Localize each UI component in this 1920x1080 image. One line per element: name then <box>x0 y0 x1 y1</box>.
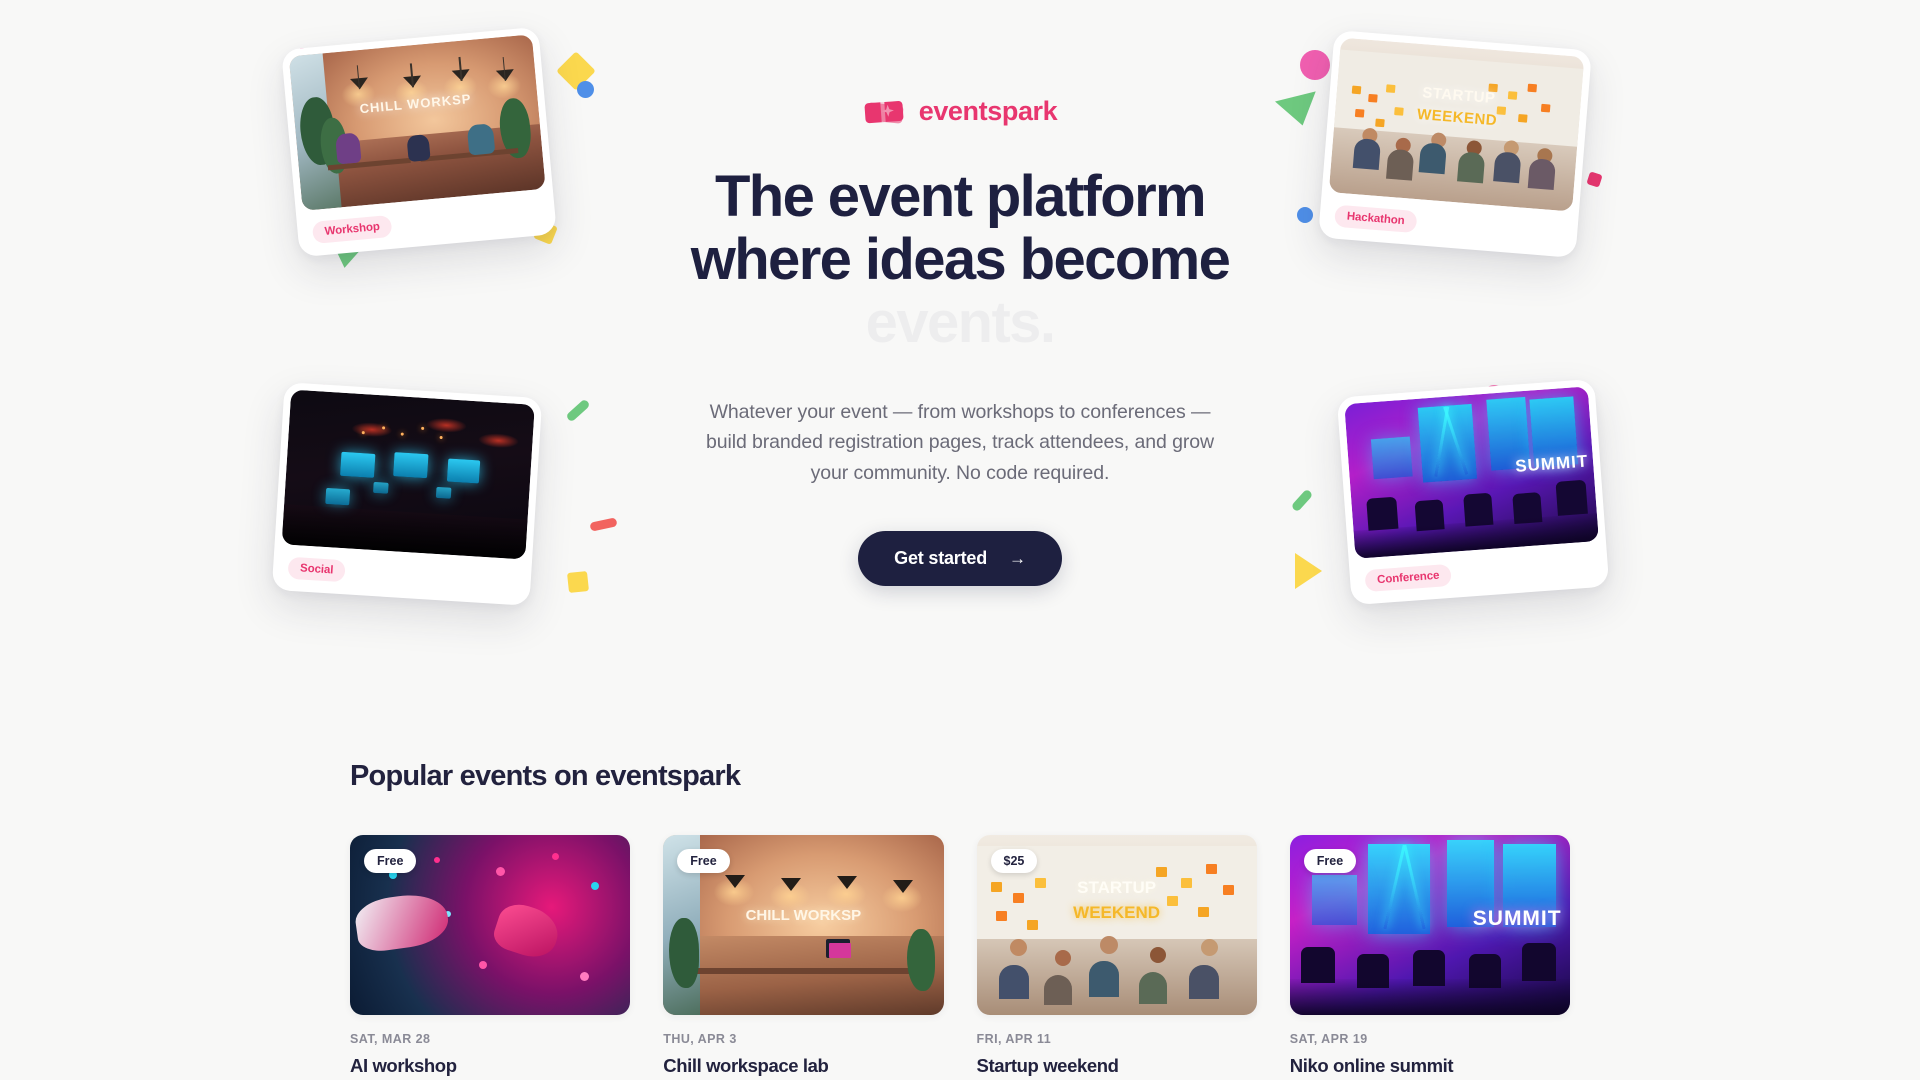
event-thumbnail: Free SUMMIT <box>1290 835 1570 1015</box>
event-date: SAT, MAR 28 <box>350 1032 630 1046</box>
event-thumbnail: Free CHILL WORKSP <box>663 835 943 1015</box>
hero-content: eventspark The event platform where idea… <box>580 96 1340 586</box>
brand-name: eventspark <box>919 96 1058 127</box>
get-started-label: Get started <box>894 548 987 569</box>
popular-events-section: Popular events on eventspark Free <box>0 760 1920 1077</box>
floating-card-photo: CHILL WORKSP <box>289 34 546 210</box>
brand-logo[interactable]: eventspark <box>580 96 1340 127</box>
headline-line-2: where ideas become <box>580 228 1340 291</box>
event-card[interactable]: $25 STARTUP WEEKEND <box>977 835 1257 1077</box>
get-started-button[interactable]: Get started → <box>858 531 1062 586</box>
event-title: Startup weekend <box>977 1055 1257 1077</box>
subhead-line-2: build branded registration pages, track … <box>706 431 1214 453</box>
page-title: The event platform where ideas become ev… <box>580 165 1340 355</box>
hero-section: CHILL WORKSP Workshop <box>0 0 1920 660</box>
event-title: Niko online summit <box>1290 1055 1570 1077</box>
scene-sticky-note-wall: STARTUP WEEKEND <box>1329 38 1585 212</box>
event-thumbnail: Free <box>350 835 630 1015</box>
event-price-badge: $25 <box>991 849 1038 873</box>
subhead-line-3: your community. No code required. <box>811 462 1110 484</box>
event-price-badge: Free <box>1304 849 1356 873</box>
event-price-badge: Free <box>677 849 729 873</box>
scene-dark-neon-desks <box>282 390 535 560</box>
floating-card-conference[interactable]: SUMMIT Conference <box>1337 379 1610 605</box>
floating-card-photo <box>282 390 535 560</box>
floating-card-category: Social <box>287 557 346 583</box>
hero-subheadline: Whatever your event — from workshops to … <box>580 397 1340 489</box>
event-title: Chill workspace lab <box>663 1055 943 1077</box>
event-date: THU, APR 3 <box>663 1032 943 1046</box>
headline-line-3: events. <box>580 291 1340 354</box>
event-date: SAT, APR 19 <box>1290 1032 1570 1046</box>
arrow-right-icon: → <box>1009 550 1026 567</box>
floating-card-photo: STARTUP WEEKEND <box>1329 38 1585 212</box>
headline-line-1: The event platform <box>580 165 1340 228</box>
scene-purple-summit-stage: SUMMIT <box>1344 386 1599 558</box>
scene-coworking-lounge: CHILL WORKSP <box>289 34 546 210</box>
confetti-square-magenta <box>1586 171 1602 187</box>
event-thumbnail: $25 STARTUP WEEKEND <box>977 835 1257 1015</box>
event-title: AI workshop <box>350 1055 630 1077</box>
floating-card-category: Hackathon <box>1334 205 1417 233</box>
event-card[interactable]: Free CHILL WORKSP <box>663 835 943 1077</box>
floating-card-hackathon[interactable]: STARTUP WEEKEND <box>1318 30 1592 258</box>
landing-page: CHILL WORKSP Workshop <box>0 0 1920 1080</box>
confetti-circle-pink-2 <box>1300 50 1330 80</box>
event-price-badge: Free <box>364 849 416 873</box>
event-card[interactable]: Free SAT, MAR 28 <box>350 835 630 1077</box>
floating-card-photo: SUMMIT <box>1344 386 1599 558</box>
ticket-icon <box>863 97 907 127</box>
event-card-grid: Free SAT, MAR 28 <box>350 835 1570 1077</box>
popular-events-title: Popular events on eventspark <box>350 760 1570 793</box>
floating-card-category: Conference <box>1364 564 1452 592</box>
event-date: FRI, APR 11 <box>977 1032 1257 1046</box>
floating-card-social[interactable]: Social <box>272 382 543 606</box>
subhead-line-1: Whatever your event — from workshops to … <box>710 401 1211 423</box>
cta-container: Get started → <box>580 531 1340 586</box>
event-card[interactable]: Free SUMMIT <box>1290 835 1570 1077</box>
floating-card-category: Workshop <box>312 215 393 244</box>
floating-card-workshop[interactable]: CHILL WORKSP Workshop <box>281 27 557 258</box>
